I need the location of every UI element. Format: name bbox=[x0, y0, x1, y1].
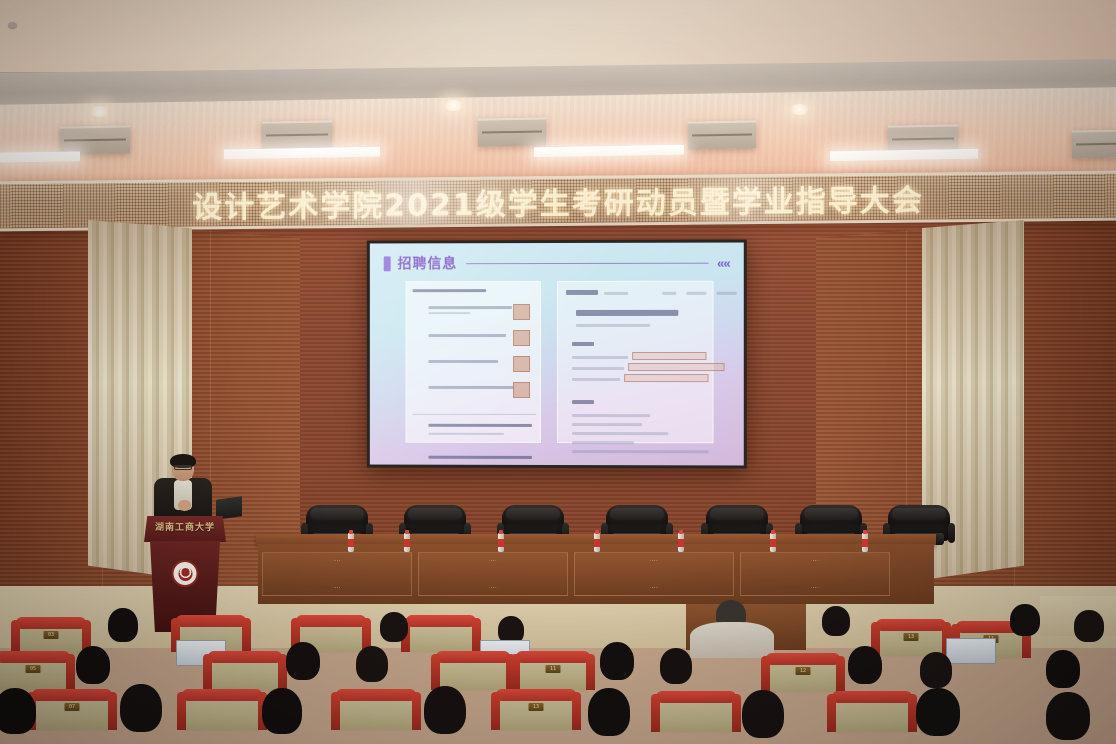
audience-area: 03 13 11 05 bbox=[0, 596, 1116, 744]
emblem-inner bbox=[178, 567, 192, 581]
smoke-detector-icon bbox=[8, 22, 17, 28]
audience-head bbox=[1046, 692, 1090, 740]
chevron-left-icon: «« bbox=[717, 255, 730, 270]
water-bottle bbox=[770, 528, 776, 552]
section-duties-header bbox=[572, 342, 594, 346]
seat[interactable]: 13 bbox=[500, 696, 572, 730]
audience-shoulder bbox=[690, 622, 774, 658]
seat[interactable]: 12 bbox=[770, 660, 836, 692]
lectern-institution-name: 湖南工商大学 bbox=[144, 520, 226, 533]
glasses-icon bbox=[174, 465, 192, 470]
ceiling-recess bbox=[60, 125, 130, 154]
seat[interactable] bbox=[660, 698, 732, 732]
audience-head bbox=[424, 686, 466, 734]
seat-number: 13 bbox=[529, 703, 544, 711]
audience-head bbox=[108, 608, 138, 642]
seat[interactable] bbox=[440, 658, 506, 690]
slide-title: 招聘信息 bbox=[398, 253, 458, 273]
seat-number: 07 bbox=[65, 703, 80, 711]
list-item bbox=[414, 384, 532, 406]
audience-head bbox=[660, 648, 692, 684]
site-logo bbox=[566, 290, 598, 295]
requirement-line bbox=[572, 414, 650, 417]
audience-head bbox=[1010, 604, 1040, 636]
nav-item bbox=[686, 292, 706, 295]
water-bottle bbox=[862, 528, 868, 552]
banner-glare bbox=[268, 179, 558, 226]
seat-number: 13 bbox=[904, 633, 919, 641]
audience-head bbox=[1046, 650, 1080, 688]
audience-head bbox=[380, 612, 408, 642]
ceiling-recess bbox=[262, 120, 332, 149]
ceiling-downlight bbox=[790, 104, 809, 115]
audience-head bbox=[262, 688, 302, 734]
projection-screen: 招聘信息 «« bbox=[367, 239, 747, 468]
seat[interactable] bbox=[836, 698, 908, 732]
audience-head bbox=[286, 642, 320, 680]
ceiling-downlight bbox=[444, 100, 463, 111]
led-banner: 设计艺术学院2021级学生考研动员暨学业指导大会 bbox=[0, 171, 1116, 232]
seat-number: 11 bbox=[546, 665, 561, 673]
seat-number: 05 bbox=[26, 665, 41, 673]
seat-number: 12 bbox=[796, 667, 811, 675]
section-requirements-header bbox=[572, 400, 594, 404]
audience-head bbox=[76, 646, 110, 684]
table-front-panel bbox=[258, 544, 934, 604]
left-panel-header bbox=[413, 289, 487, 292]
nav-item bbox=[717, 292, 737, 295]
auditorium-photo: 设计艺术学院2021级学生考研动员暨学业指导大会 招聘信息 «« bbox=[0, 0, 1116, 744]
seat[interactable]: 03 bbox=[20, 624, 82, 654]
audience-head bbox=[120, 684, 162, 732]
ceiling-downlight bbox=[90, 106, 109, 117]
seat-number: 03 bbox=[44, 631, 59, 639]
water-bottle bbox=[678, 528, 684, 552]
requirement-line bbox=[572, 423, 642, 426]
site-subtitle bbox=[604, 292, 628, 295]
slide-header: 招聘信息 «« bbox=[384, 253, 730, 274]
requirement-line bbox=[572, 432, 668, 435]
audience-head bbox=[848, 646, 882, 684]
ceiling-recess bbox=[688, 120, 756, 149]
banner-text: 设计艺术学院2021级学生考研动员暨学业指导大会 bbox=[0, 174, 1116, 229]
university-emblem-icon bbox=[172, 560, 199, 587]
seat[interactable] bbox=[212, 658, 278, 690]
audience-head bbox=[920, 652, 952, 688]
list-item bbox=[414, 304, 532, 326]
job-meta bbox=[576, 324, 650, 327]
audience-head bbox=[742, 690, 784, 738]
seat[interactable]: 07 bbox=[36, 696, 108, 730]
table-panel-section bbox=[574, 552, 734, 596]
audience-head bbox=[822, 606, 850, 636]
water-bottle bbox=[348, 528, 354, 552]
audience-laptop[interactable] bbox=[946, 638, 996, 664]
audience-head bbox=[588, 688, 630, 736]
slide-bullet-icon bbox=[384, 256, 391, 271]
seat[interactable] bbox=[340, 696, 412, 730]
audience-head bbox=[356, 646, 388, 682]
nav-item bbox=[662, 292, 676, 295]
audience-head bbox=[916, 688, 960, 736]
ceiling-recess bbox=[478, 117, 546, 146]
list-item bbox=[414, 332, 532, 354]
ceiling-panel-light bbox=[0, 151, 80, 162]
speaker-person bbox=[152, 456, 214, 524]
slide-right-panel bbox=[557, 281, 714, 444]
requirement-line bbox=[572, 441, 634, 444]
audience-head bbox=[1074, 610, 1104, 642]
water-bottle bbox=[498, 528, 504, 552]
audience-head bbox=[0, 688, 36, 734]
audience-head bbox=[600, 642, 634, 680]
slide-divider bbox=[466, 262, 708, 264]
slide-left-panel bbox=[406, 281, 541, 443]
job-title bbox=[576, 310, 678, 316]
presentation-slide: 招聘信息 «« bbox=[370, 243, 744, 466]
seat[interactable]: 11 bbox=[520, 658, 586, 690]
seat[interactable]: 05 bbox=[0, 658, 66, 690]
table-panel-section bbox=[418, 552, 568, 596]
lectern-top: 湖南工商大学 bbox=[144, 516, 226, 542]
ceiling-recess bbox=[1072, 129, 1116, 158]
list-item bbox=[414, 358, 532, 380]
table-panel-section bbox=[262, 552, 412, 596]
requirement-line bbox=[572, 450, 709, 453]
table-panel-section bbox=[740, 552, 890, 596]
speaker-hand bbox=[178, 500, 191, 511]
water-bottle bbox=[594, 528, 600, 552]
seat[interactable] bbox=[410, 622, 472, 652]
banner-glare-secondary bbox=[670, 176, 826, 221]
water-bottle bbox=[404, 528, 410, 552]
seat[interactable] bbox=[186, 696, 258, 730]
